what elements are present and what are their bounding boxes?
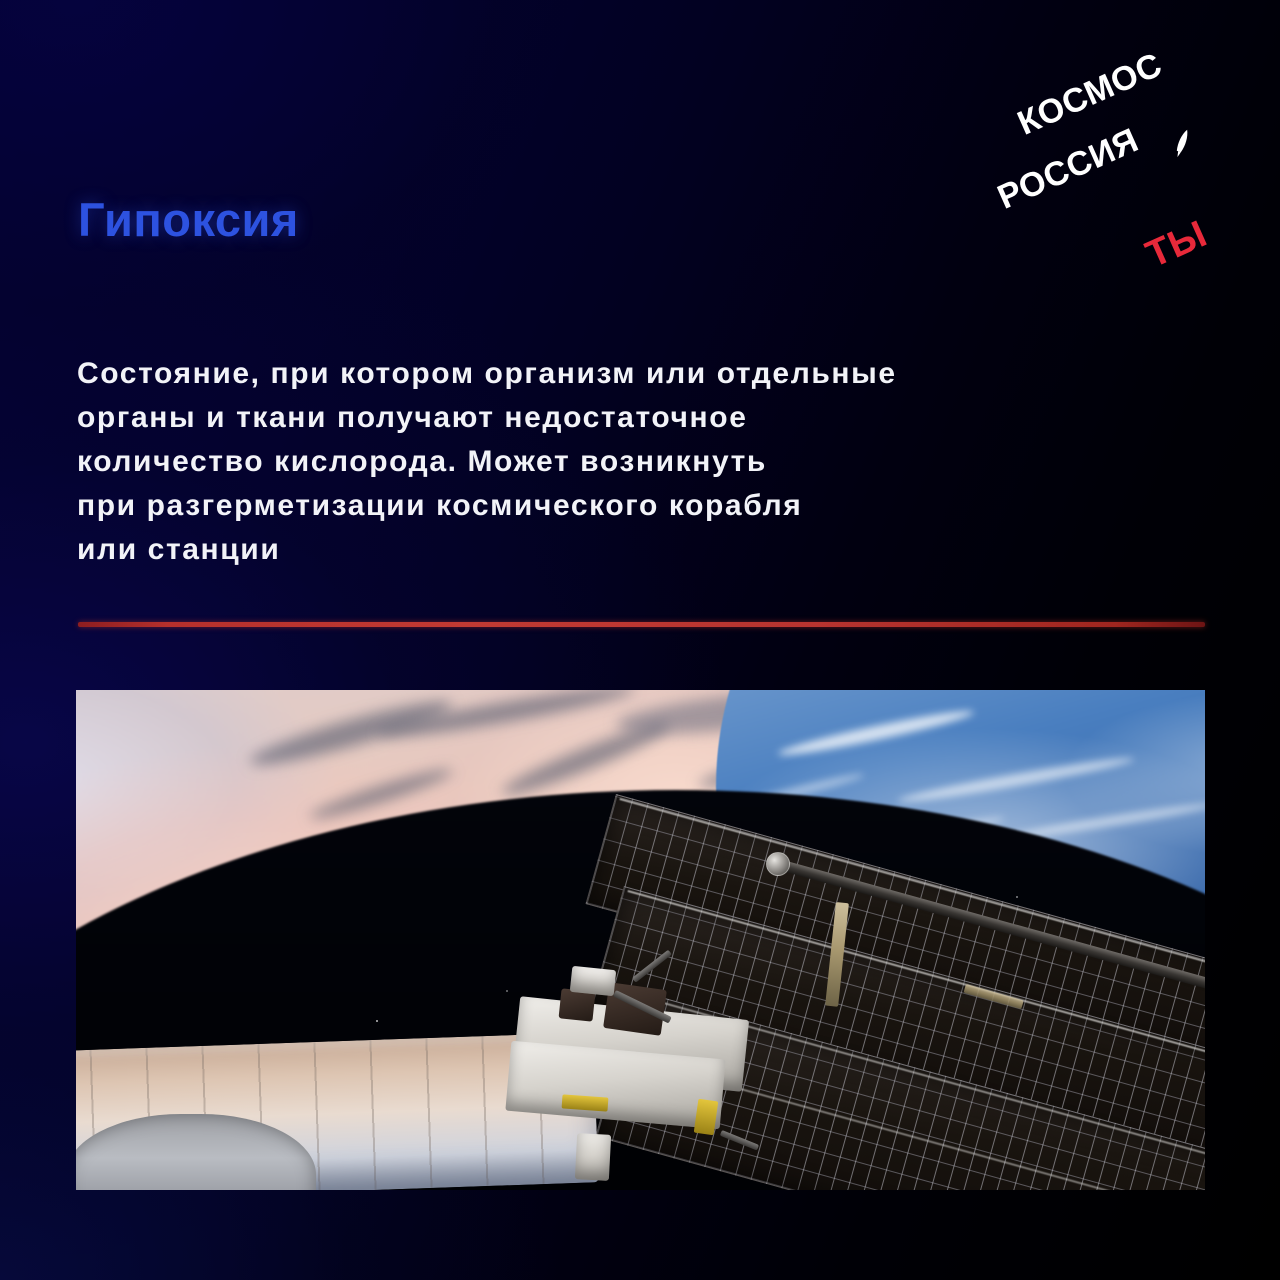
- rocket-icon: [1162, 125, 1204, 169]
- logo-line-kosmos: КОСМОС: [1012, 46, 1168, 144]
- logo-line-rossiya: РОССИЯ: [992, 121, 1145, 218]
- payload-box: [575, 1133, 611, 1181]
- boom-end-cap: [766, 852, 790, 876]
- body-line: количество кислорода. Может возникнуть: [77, 440, 1207, 484]
- iss-photo: [76, 690, 1205, 1190]
- body-paragraph: Состояние, при котором организм или отде…: [77, 352, 1207, 572]
- body-line: при разгерметизации космического корабля: [77, 484, 1207, 528]
- photo-content: [76, 690, 1205, 1190]
- star: [1016, 896, 1018, 898]
- page-title: Гипоксия: [78, 192, 299, 247]
- payload-panel: [570, 966, 616, 996]
- logo-accent-ty: ТЫ: [1140, 213, 1214, 277]
- section-divider: [78, 622, 1205, 627]
- body-line: Состояние, при котором организм или отде…: [77, 352, 1207, 396]
- brand-logo[interactable]: КОСМОС РОССИЯ ТЫ: [988, 42, 1224, 214]
- slide-root: КОСМОС РОССИЯ ТЫ Гипоксия Состояние, при…: [0, 0, 1280, 1280]
- star: [376, 1020, 378, 1022]
- body-line: или станции: [77, 528, 1207, 572]
- body-line: органы и ткани получают недостаточное: [77, 396, 1207, 440]
- star: [506, 990, 508, 992]
